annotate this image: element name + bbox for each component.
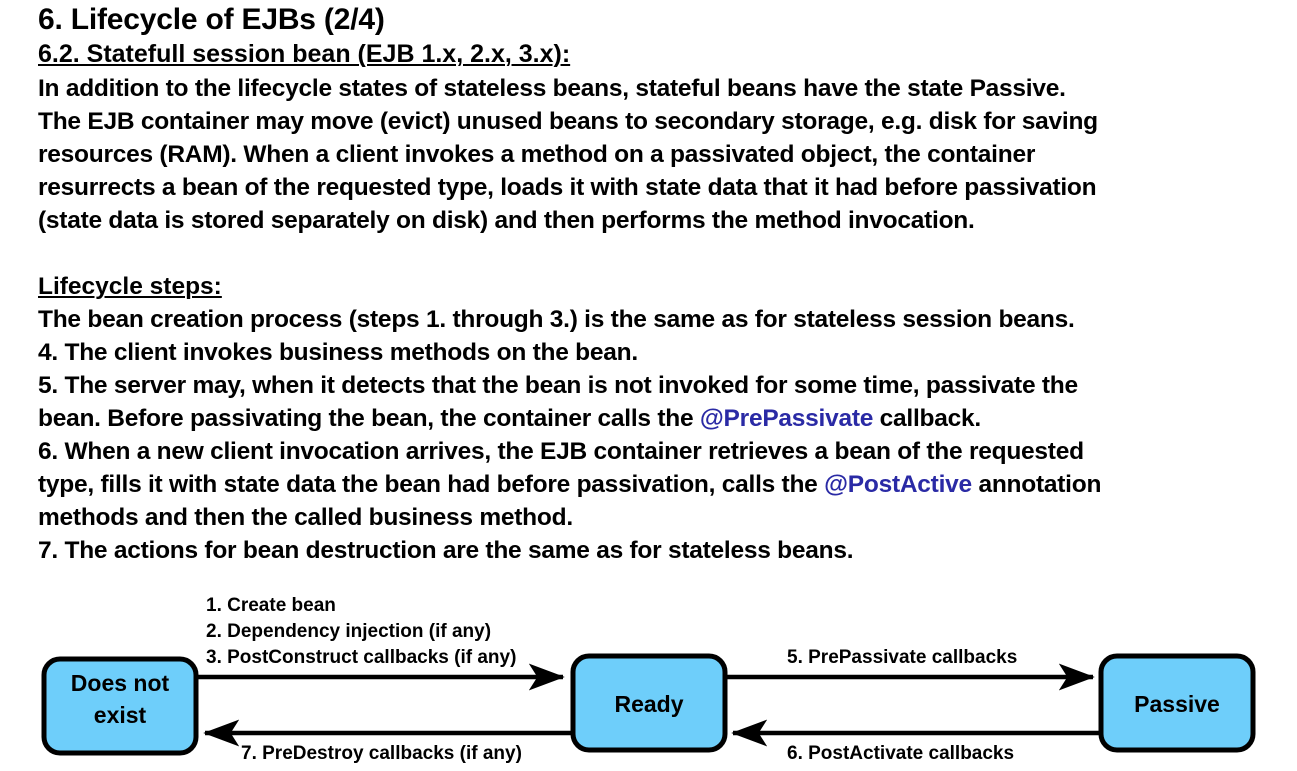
intro-paragraph: In addition to the lifecycle states of s… bbox=[38, 72, 1278, 237]
create-edge-label-3: 3. PostConstruct callbacks (if any) bbox=[206, 647, 516, 668]
lifecycle-steps-list: The bean creation process (steps 1. thro… bbox=[38, 303, 1278, 567]
node-passive-label: Passive bbox=[1134, 691, 1220, 717]
prepassivate-annotation: @PrePassivate bbox=[700, 405, 873, 432]
passivate-edge-label: 5. PrePassivate callbacks bbox=[787, 647, 1017, 668]
node-passive[interactable]: Passive bbox=[1101, 656, 1253, 750]
activate-edge-label: 6. PostActivate callbacks bbox=[787, 743, 1014, 764]
steps-line-3a: 5. The server may, when it detects that … bbox=[38, 369, 1278, 402]
intro-line-5: (state data is stored separately on disk… bbox=[38, 204, 1278, 237]
node-ready[interactable]: Ready bbox=[573, 656, 725, 750]
steps-line-4b-pre: type, fills it with state data the bean … bbox=[38, 471, 824, 498]
section-subtitle: 6.2. Statefull session bean (EJB 1.x, 2.… bbox=[38, 39, 1278, 70]
create-edge-label-1: 1. Create bean bbox=[206, 595, 336, 616]
slide-text-block: 6. Lifecycle of EJBs (2/4) 6.2. Stateful… bbox=[38, 2, 1278, 567]
steps-line-4c: methods and then the called business met… bbox=[38, 501, 1278, 534]
intro-line-4: resurrects a bean of the requested type,… bbox=[38, 171, 1278, 204]
node-does-not-exist-label-2: exist bbox=[94, 702, 147, 728]
intro-line-1: In addition to the lifecycle states of s… bbox=[38, 72, 1278, 105]
intro-line-3: resources (RAM). When a client invokes a… bbox=[38, 138, 1278, 171]
destroy-edge-label: 7. PreDestroy callbacks (if any) bbox=[241, 743, 522, 764]
lifecycle-steps-heading: Lifecycle steps: bbox=[38, 270, 1278, 303]
page-title: 6. Lifecycle of EJBs (2/4) bbox=[38, 2, 1278, 38]
node-does-not-exist-label-1: Does not bbox=[71, 670, 170, 696]
steps-line-2: 4. The client invokes business methods o… bbox=[38, 336, 1278, 369]
steps-line-4b-post: annotation bbox=[972, 471, 1101, 498]
passivate-edge: 5. PrePassivate callbacks bbox=[726, 647, 1093, 677]
steps-line-3b-post: callback. bbox=[873, 405, 981, 432]
postactive-annotation: @PostActive bbox=[824, 471, 972, 498]
steps-line-4b: type, fills it with state data the bean … bbox=[38, 468, 1278, 501]
paragraph-spacer bbox=[38, 237, 1278, 270]
node-ready-label: Ready bbox=[614, 691, 683, 717]
create-edge-label-2: 2. Dependency injection (if any) bbox=[206, 621, 491, 642]
steps-line-4a: 6. When a new client invocation arrives,… bbox=[38, 435, 1278, 468]
steps-line-3b-pre: bean. Before passivating the bean, the c… bbox=[38, 405, 700, 432]
activate-edge: 6. PostActivate callbacks bbox=[733, 733, 1099, 764]
steps-line-1: The bean creation process (steps 1. thro… bbox=[38, 303, 1278, 336]
lifecycle-state-diagram: 1. Create bean 2. Dependency injection (… bbox=[0, 590, 1297, 771]
create-edge: 1. Create bean 2. Dependency injection (… bbox=[198, 595, 563, 677]
steps-line-5: 7. The actions for bean destruction are … bbox=[38, 534, 1278, 567]
destroy-edge: 7. PreDestroy callbacks (if any) bbox=[205, 733, 571, 764]
node-does-not-exist[interactable]: Does not exist bbox=[44, 659, 196, 753]
intro-line-2: The EJB container may move (evict) unuse… bbox=[38, 105, 1278, 138]
steps-line-3b: bean. Before passivating the bean, the c… bbox=[38, 402, 1278, 435]
